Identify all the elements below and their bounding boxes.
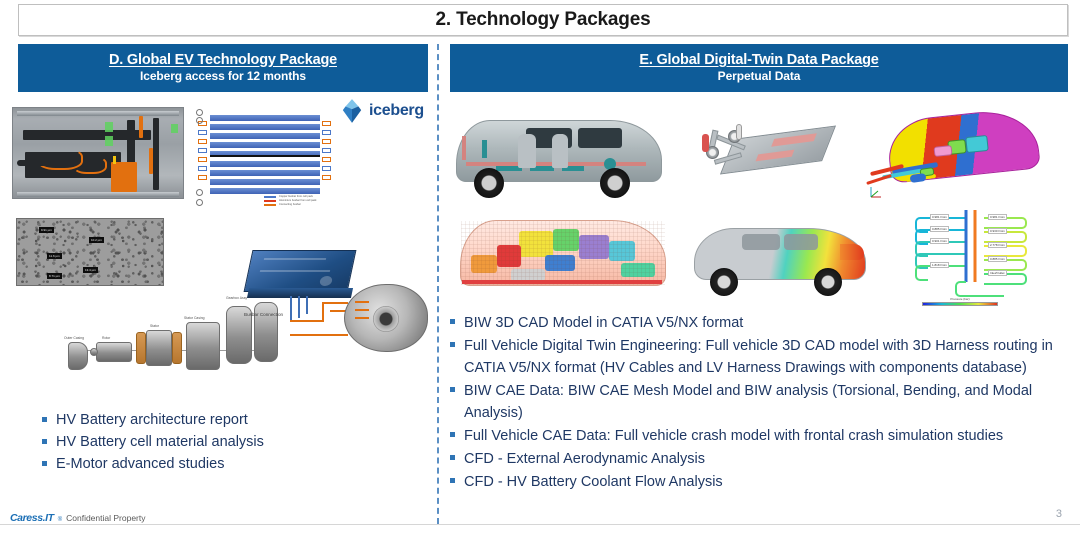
battery-pack-photo <box>12 107 184 199</box>
busbar-schematic: Copper busbar from cell pack Aluminium b… <box>192 107 340 207</box>
right-panel-title: E. Global Digital-Twin Data Package <box>639 52 878 69</box>
slide-title-bar: 2. Technology Packages <box>18 4 1068 36</box>
aero-cfd-vehicle <box>690 214 870 300</box>
bullet-text: BIW 3D CAD Model in CATIA V5/NX format <box>464 312 743 334</box>
list-item: BIW CAE Data: BIW CAE Mesh Model and BIW… <box>450 380 1060 424</box>
page-title: 2. Technology Packages <box>436 9 651 31</box>
bullet-text: CFD - External Aerodynamic Analysis <box>464 448 705 470</box>
vehicle-cutaway-cad <box>452 104 670 200</box>
bullet-text: HV Battery architecture report <box>56 410 248 431</box>
panel-divider <box>437 44 439 524</box>
bullet-marker <box>450 432 455 437</box>
bullet-marker <box>42 417 47 422</box>
inverter-busbar-diagram: Busbar Connection <box>234 244 430 356</box>
trademark-symbol: ® <box>58 517 62 523</box>
bullet-text: E-Motor advanced studies <box>56 454 224 475</box>
company-logo: Caress.IT <box>10 512 54 524</box>
biw-cae-mesh-model <box>456 206 674 306</box>
busbar-legend-item: Copper busbar from cell pack <box>279 195 313 198</box>
bullet-marker <box>42 461 47 466</box>
cfd-flow-paths <box>884 208 1066 308</box>
list-item: CFD - External Aerodynamic Analysis <box>450 448 1060 470</box>
list-item: CFD - HV Battery Coolant Flow Analysis <box>450 471 1060 493</box>
list-item: Full Vehicle CAE Data: Full vehicle cras… <box>450 425 1060 447</box>
right-panel-subtitle: Perpetual Data <box>718 70 801 84</box>
page-number: 3 <box>1056 508 1062 520</box>
right-panel-header: E. Global Digital-Twin Data Package Perp… <box>450 44 1068 92</box>
iceberg-wordmark: iceberg <box>369 102 424 120</box>
bullet-marker <box>42 439 47 444</box>
list-item: E-Motor advanced studies <box>42 454 412 475</box>
bullet-text: Full Vehicle CAE Data: Full vehicle cras… <box>464 425 1003 447</box>
bullet-text: HV Battery cell material analysis <box>56 432 264 453</box>
coordinate-axes-icon <box>868 184 884 200</box>
busbar-legend: Copper busbar from cell pack Aluminium b… <box>264 195 316 207</box>
cfd-colorbar-label: Pressure (bar) <box>922 297 998 301</box>
iceberg-logo: iceberg <box>341 99 424 123</box>
left-panel-title: D. Global EV Technology Package <box>109 52 337 69</box>
left-panel-subtitle: Iceberg access for 12 months <box>140 70 306 84</box>
bullet-marker <box>450 387 455 392</box>
footer-divider <box>0 524 1080 525</box>
busbar-legend-item: Connecting busbar <box>279 203 301 206</box>
bullet-text: Full Vehicle Digital Twin Engineering: F… <box>464 335 1060 379</box>
list-item: Full Vehicle Digital Twin Engineering: F… <box>450 335 1060 379</box>
busbar-legend-item: Aluminium busbar from cell pack <box>279 199 316 202</box>
busbar-cell-stack <box>210 115 320 199</box>
cfd-coolant-flow-diagram: 0.981 l/min 0.885 l/min 0.901 l/min 1.81… <box>884 208 1066 308</box>
chassis-assembly-cad <box>700 110 838 198</box>
footer-branding: Caress.IT ® Confidential Property <box>10 512 146 524</box>
bullet-text: BIW CAE Data: BIW CAE Mesh Model and BIW… <box>464 380 1060 424</box>
left-panel-header: D. Global EV Technology Package Iceberg … <box>18 44 428 92</box>
bullet-marker <box>450 478 455 483</box>
busbar-connection-label: Busbar Connection <box>244 312 283 317</box>
biw-structure-model <box>862 106 1062 210</box>
bullet-marker <box>450 342 455 347</box>
bullet-marker <box>450 455 455 460</box>
motor-housing <box>344 284 428 352</box>
sem-micrograph: 9.91 µm 10.2 µm 11.6 µm 13.4 µm 8.71 µm <box>16 218 164 286</box>
confidentiality-note: Confidential Property <box>66 513 145 523</box>
list-item: HV Battery architecture report <box>42 410 412 431</box>
bullet-text: CFD - HV Battery Coolant Flow Analysis <box>464 471 723 493</box>
right-bullet-list: BIW 3D CAD Model in CATIA V5/NX format F… <box>450 312 1060 494</box>
bullet-marker <box>450 319 455 324</box>
list-item: BIW 3D CAD Model in CATIA V5/NX format <box>450 312 1060 334</box>
list-item: HV Battery cell material analysis <box>42 432 412 453</box>
left-bullet-list: HV Battery architecture report HV Batter… <box>42 410 412 476</box>
cfd-colorbar <box>922 302 998 306</box>
iceberg-icon <box>341 99 363 123</box>
slide-root: 2. Technology Packages D. Global EV Tech… <box>0 0 1080 535</box>
